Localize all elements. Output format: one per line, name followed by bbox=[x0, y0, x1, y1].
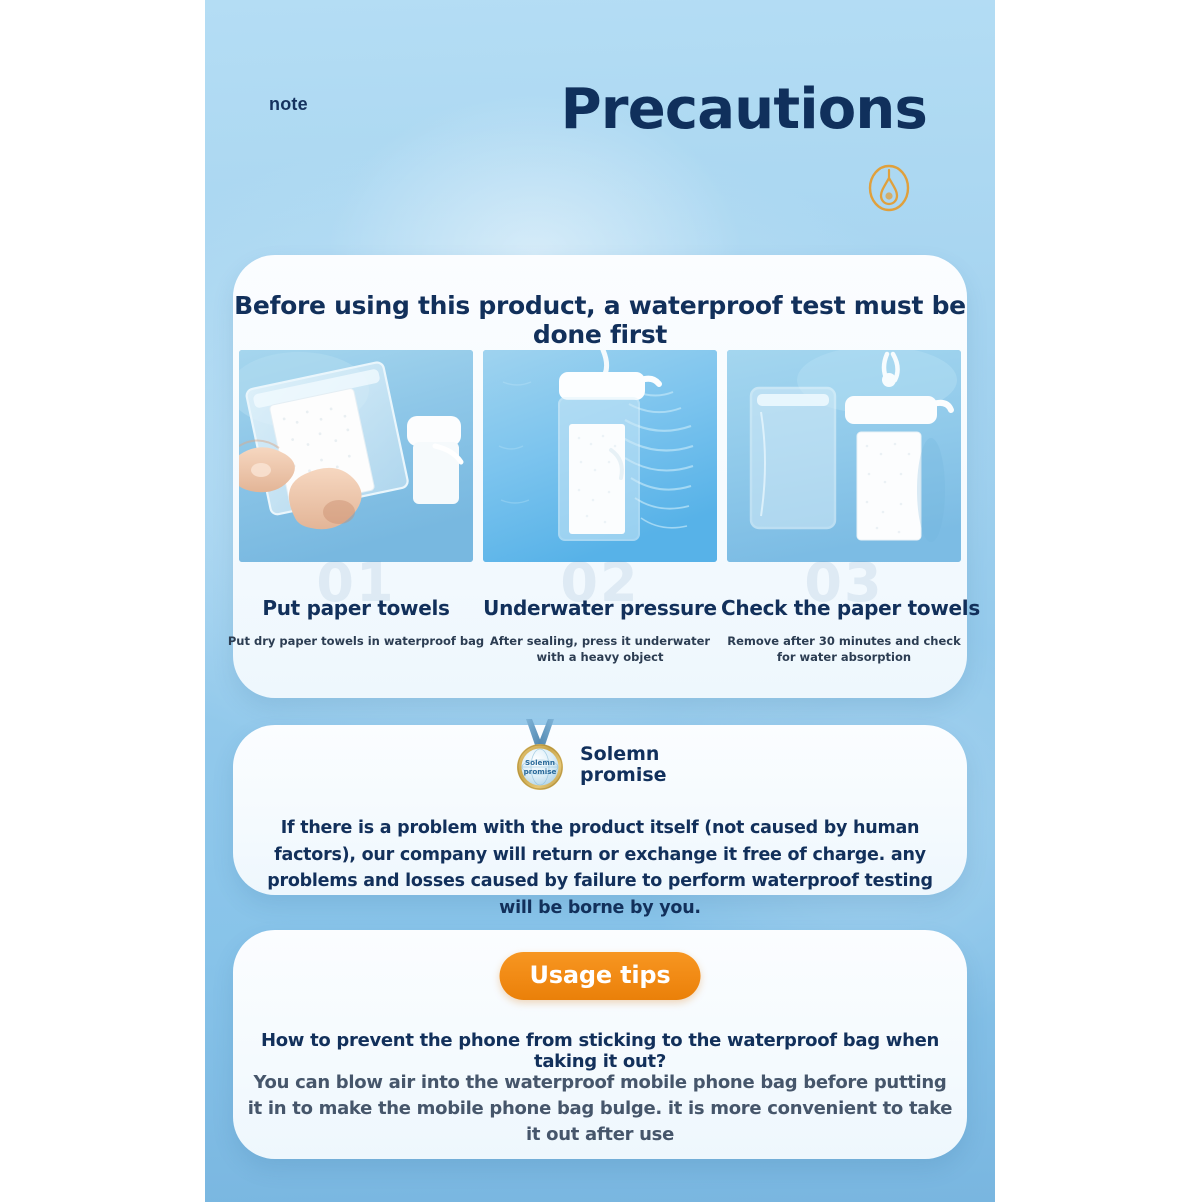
usage-tips-question: How to prevent the phone from sticking t… bbox=[249, 1030, 951, 1072]
svg-text:promise: promise bbox=[524, 767, 557, 776]
svg-text:Solemn: Solemn bbox=[525, 758, 555, 767]
hand-inserting-paper-towel-into-waterproof-bag-photo bbox=[239, 350, 473, 562]
test-steps-list: 01 Put paper towels Put dry paper towels… bbox=[239, 350, 961, 562]
step-description: After sealing, press it underwater with … bbox=[479, 634, 721, 665]
usage-tips-answer: You can blow air into the waterproof mob… bbox=[247, 1070, 953, 1148]
step-description: Remove after 30 minutes and check for wa… bbox=[723, 634, 965, 665]
note-label: note bbox=[269, 94, 308, 115]
step-title: Check the paper towels bbox=[721, 596, 967, 620]
precautions-page: note Precautions Before using this produ… bbox=[0, 0, 1202, 1202]
blue-panel: note Precautions Before using this produ… bbox=[205, 0, 995, 1202]
solemn-promise-card: Solemn promise Solemn promise If there i… bbox=[233, 725, 967, 895]
waterproof-test-heading: Before using this product, a waterproof … bbox=[233, 291, 967, 349]
test-step-01: 01 Put paper towels Put dry paper towels… bbox=[239, 350, 473, 562]
empty-bag-and-dry-paper-towel-photo bbox=[727, 350, 961, 562]
usage-tips-button[interactable]: Usage tips bbox=[500, 952, 701, 1000]
waterproof-test-card: Before using this product, a waterproof … bbox=[233, 255, 967, 698]
test-step-02: 02 Underwater pressure After sealing, pr… bbox=[483, 350, 717, 562]
page-title: Precautions bbox=[561, 82, 927, 138]
solemn-promise-header: Solemn promise Solemn promise bbox=[233, 735, 967, 795]
page-header: note Precautions bbox=[205, 0, 995, 240]
usage-tips-card: Usage tips How to prevent the phone from… bbox=[233, 930, 967, 1159]
test-step-03: 03 Check the paper towels Remove after 3… bbox=[727, 350, 961, 562]
step-title: Put paper towels bbox=[233, 596, 479, 620]
water-drop-icon bbox=[867, 162, 911, 214]
solemn-promise-body-text: If there is a problem with the product i… bbox=[261, 815, 939, 921]
step-title: Underwater pressure bbox=[477, 596, 723, 620]
solemn-promise-label: Solemn promise bbox=[580, 744, 690, 787]
solemn-promise-medal-icon: Solemn promise bbox=[510, 717, 570, 795]
sealed-bag-submerged-in-water-photo bbox=[483, 350, 717, 562]
step-description: Put dry paper towels in waterproof bag bbox=[221, 634, 491, 650]
